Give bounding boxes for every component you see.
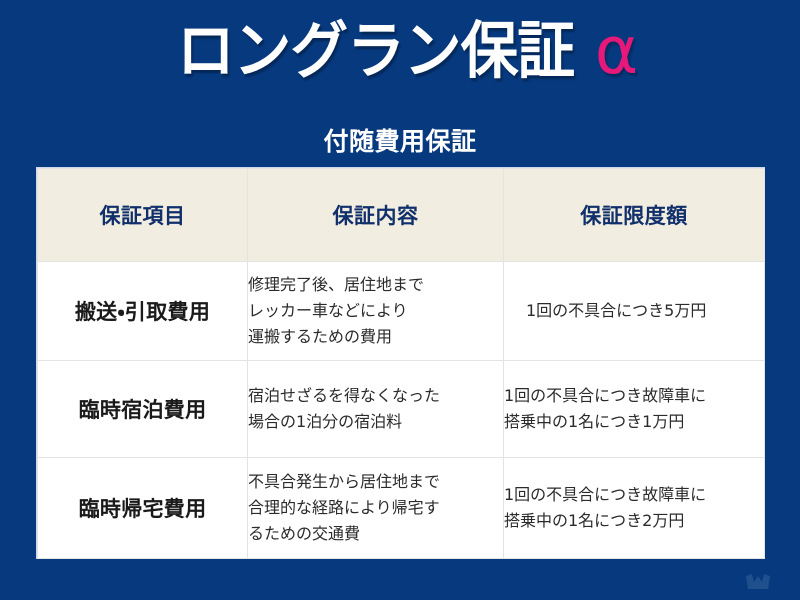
warranty-table-container: 保証項目 保証内容 保証限度額 搬送・引取費用 修理完了後、居住地まで レッカー… (36, 167, 765, 559)
watermark (745, 568, 778, 594)
row-limit: 1回の不具合につき5万円 (504, 262, 765, 361)
content-line: 修理完了後、居住地まで (248, 272, 503, 298)
content-line: 不具合発生から居住地まで (248, 469, 503, 495)
row-content: 宿泊せざるを得なくなった 場合の1泊分の宿泊料 (248, 361, 504, 458)
table-row: 臨時帰宅費用 不具合発生から居住地まで 合理的な経路により帰宅す るための交通費… (38, 458, 765, 559)
row-item-name: 搬送・引取費用 (38, 262, 248, 361)
column-header-item: 保証項目 (38, 169, 248, 262)
page-title: ロングラン保証α (0, 18, 800, 84)
table-row: 臨時宿泊費用 宿泊せざるを得なくなった 場合の1泊分の宿泊料 1回の不具合につき… (38, 361, 765, 458)
table-header-row: 保証項目 保証内容 保証限度額 (38, 169, 765, 262)
table-row: 搬送・引取費用 修理完了後、居住地まで レッカー車などにより 運搬するための費用… (38, 262, 765, 361)
content-line: 宿泊せざるを得なくなった (248, 383, 503, 409)
table-body: 搬送・引取費用 修理完了後、居住地まで レッカー車などにより 運搬するための費用… (38, 262, 765, 559)
content-line: 合理的な経路により帰宅す (248, 495, 503, 521)
table-header: 保証項目 保証内容 保証限度額 (38, 169, 765, 262)
row-limit: 1回の不具合につき故障車に 搭乗中の1名につき1万円 (504, 361, 765, 458)
row-content: 修理完了後、居住地まで レッカー車などにより 運搬するための費用 (248, 262, 504, 361)
limit-line: 搭乗中の1名につき2万円 (504, 508, 764, 534)
warranty-table: 保証項目 保証内容 保証限度額 搬送・引取費用 修理完了後、居住地まで レッカー… (37, 168, 765, 559)
page-subtitle: 付随費用保証 (0, 128, 800, 156)
slide-root: ロングラン保証α 付随費用保証 保証項目 保証内容 保証限度額 搬送・引取費用 … (0, 0, 800, 600)
limit-line: 1回の不具合につき故障車に (504, 482, 764, 508)
row-content: 不具合発生から居住地まで 合理的な経路により帰宅す るための交通費 (248, 458, 504, 559)
row-item-name: 臨時帰宅費用 (38, 458, 248, 559)
column-header-content: 保証内容 (248, 169, 504, 262)
row-item-name: 臨時宿泊費用 (38, 361, 248, 458)
content-line: 運搬するための費用 (248, 324, 503, 350)
title-alpha-symbol: α (595, 18, 639, 84)
column-header-limit: 保証限度額 (504, 169, 765, 262)
limit-line: 1回の不具合につき5万円 (526, 298, 764, 324)
title-main-text: ロングラン保証 (177, 20, 574, 82)
content-line: 場合の1泊分の宿泊料 (248, 409, 503, 435)
logo-mark-icon (745, 573, 771, 590)
content-line: レッカー車などにより (248, 298, 503, 324)
row-limit: 1回の不具合につき故障車に 搭乗中の1名につき2万円 (504, 458, 765, 559)
limit-line: 搭乗中の1名につき1万円 (504, 409, 764, 435)
content-line: るための交通費 (248, 521, 503, 547)
limit-line: 1回の不具合につき故障車に (504, 383, 764, 409)
